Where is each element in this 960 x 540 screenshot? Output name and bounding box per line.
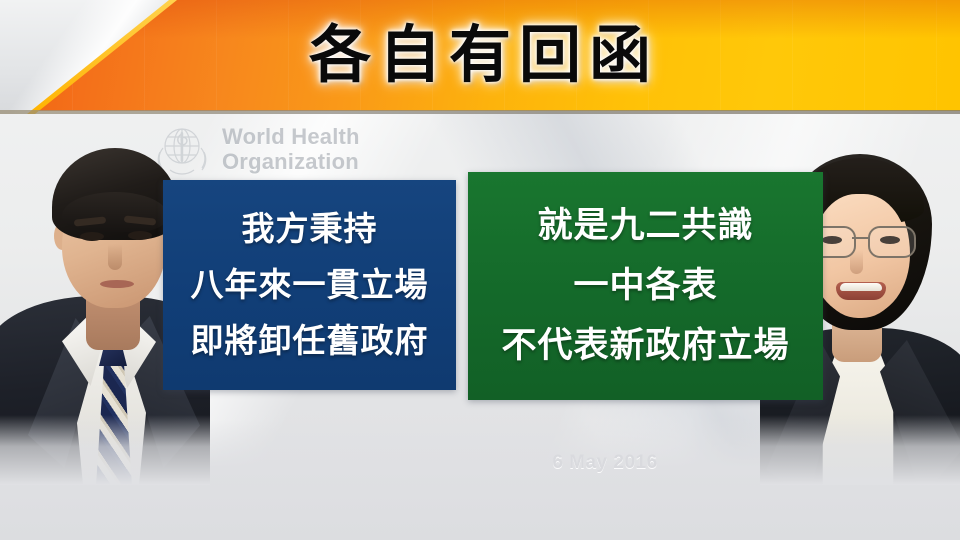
hair: [52, 148, 178, 240]
date-watermark: 6 May 2016: [505, 452, 705, 474]
quote-green-line-3: 不代表新政府立場: [501, 316, 789, 376]
who-line-1: World Health: [222, 124, 360, 149]
teeth: [840, 283, 882, 291]
headline-banner: 各自有回函: [0, 0, 960, 114]
news-graphic: World Health Organization 6 May 2016: [0, 0, 960, 540]
portrait-bottom-fade: [760, 415, 960, 485]
quote-blue-line-1: 我方秉持: [242, 201, 378, 257]
lens-right: [868, 226, 916, 258]
glasses-bridge: [852, 237, 870, 239]
quote-blue-line-3: 即將卸任舊政府: [191, 313, 429, 369]
nose: [108, 244, 122, 270]
eye-left: [80, 232, 104, 241]
who-line-2: Organization: [222, 149, 360, 174]
eye-right: [128, 231, 152, 240]
mouth: [100, 280, 134, 288]
quote-panel-blue: 我方秉持 八年來一貫立場 即將卸任舊政府: [163, 180, 456, 390]
who-watermark-text: World Health Organization: [222, 124, 360, 174]
banner-underline: [0, 110, 960, 114]
quote-panel-green: 就是九二共識 一中各表 不代表新政府立場: [468, 172, 823, 400]
page-title: 各自有回函: [0, 16, 960, 94]
quote-green-line-2: 一中各表: [573, 256, 717, 316]
nose: [850, 250, 863, 274]
quote-green-line-1: 就是九二共識: [537, 196, 753, 256]
portrait-bottom-fade: [0, 415, 210, 485]
quote-blue-line-2: 八年來一貫立場: [191, 257, 429, 313]
